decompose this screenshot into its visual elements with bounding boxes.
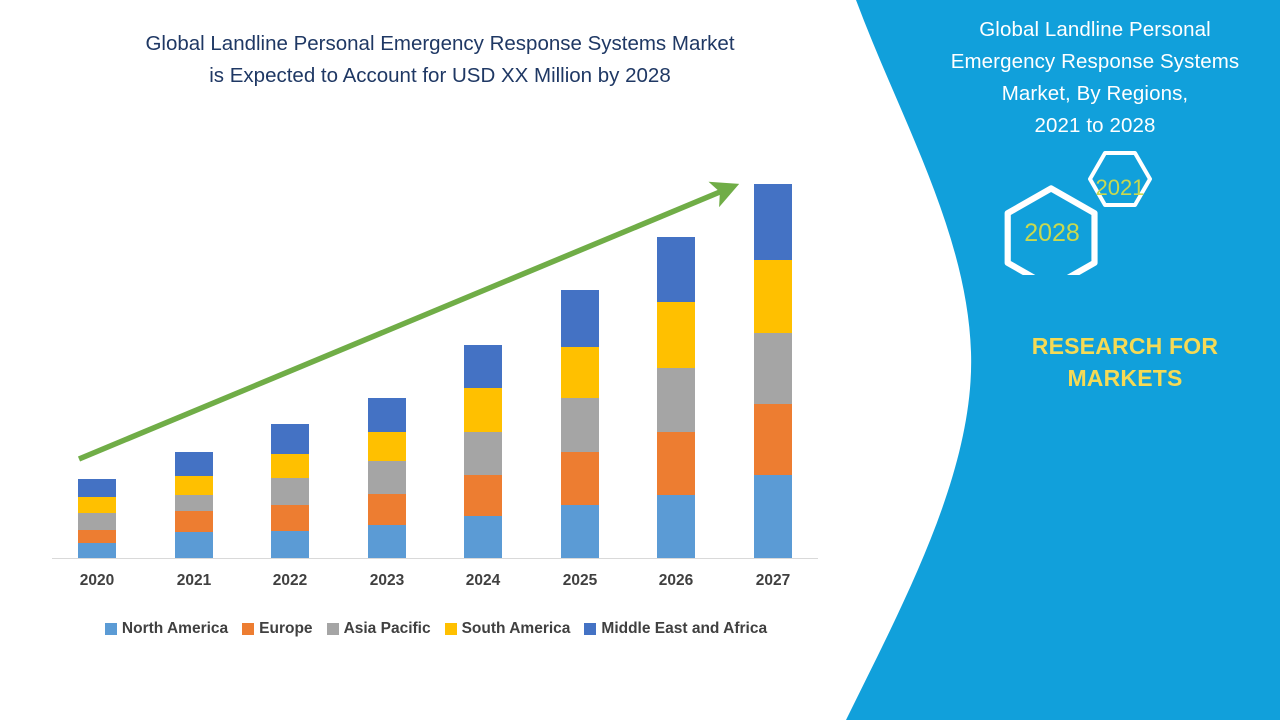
bar-segment-2020-asia-pacific bbox=[78, 513, 116, 530]
legend-label: Middle East and Africa bbox=[601, 620, 767, 638]
x-tick-2026: 2026 bbox=[631, 572, 721, 590]
x-tick-2024: 2024 bbox=[438, 572, 528, 590]
trend-arrow bbox=[0, 0, 860, 600]
bar-segment-2025-europe bbox=[561, 452, 599, 505]
bar-segment-2027-middle-east-and-africa bbox=[754, 184, 792, 260]
x-axis-labels: 20202021202220232024202520262027 bbox=[0, 572, 860, 598]
bar-segment-2027-south-america bbox=[754, 260, 792, 333]
side-panel-title-line2: Emergency Response Systems bbox=[930, 46, 1260, 78]
bar-segment-2026-north-america bbox=[657, 495, 695, 558]
side-panel-title-line4: 2021 to 2028 bbox=[930, 110, 1260, 142]
bar-segment-2022-north-america bbox=[271, 531, 309, 558]
legend-item-south-america[interactable]: South America bbox=[445, 620, 571, 638]
bar-segment-2021-europe bbox=[175, 511, 213, 532]
bar-segment-2026-south-america bbox=[657, 302, 695, 368]
brand-line1: RESEARCH FOR bbox=[985, 330, 1265, 362]
bar-2023 bbox=[368, 0, 406, 558]
legend-swatch-icon bbox=[327, 623, 339, 635]
bar-2025 bbox=[561, 0, 599, 558]
bar-segment-2020-europe bbox=[78, 530, 116, 543]
bar-segment-2027-asia-pacific bbox=[754, 333, 792, 404]
legend-item-north-america[interactable]: North America bbox=[105, 620, 228, 638]
bar-segment-2023-europe bbox=[368, 494, 406, 525]
legend-label: South America bbox=[462, 620, 571, 638]
legend-swatch-icon bbox=[242, 623, 254, 635]
bar-segment-2020-south-america bbox=[78, 497, 116, 513]
legend-swatch-icon bbox=[584, 623, 596, 635]
x-tick-2023: 2023 bbox=[342, 572, 432, 590]
bar-segment-2023-middle-east-and-africa bbox=[368, 398, 406, 432]
bar-2020 bbox=[78, 0, 116, 558]
x-tick-2020: 2020 bbox=[52, 572, 142, 590]
bar-segment-2026-asia-pacific bbox=[657, 368, 695, 432]
bar-segment-2022-middle-east-and-africa bbox=[271, 424, 309, 454]
legend-label: Asia Pacific bbox=[344, 620, 431, 638]
bar-segment-2020-north-america bbox=[78, 543, 116, 558]
bar-segment-2024-asia-pacific bbox=[464, 432, 502, 475]
legend-item-europe[interactable]: Europe bbox=[242, 620, 312, 638]
legend-swatch-icon bbox=[105, 623, 117, 635]
legend-label: North America bbox=[122, 620, 228, 638]
bar-segment-2021-north-america bbox=[175, 532, 213, 558]
brand-line2: MARKETS bbox=[985, 362, 1265, 394]
bar-2024 bbox=[464, 0, 502, 558]
bar-segment-2023-north-america bbox=[368, 525, 406, 558]
brand-wordmark: RESEARCH FOR MARKETS bbox=[985, 330, 1265, 394]
x-tick-2022: 2022 bbox=[245, 572, 335, 590]
side-panel-title-block: Global Landline Personal Emergency Respo… bbox=[930, 14, 1260, 142]
bar-segment-2022-asia-pacific bbox=[271, 478, 309, 505]
bar-segment-2023-asia-pacific bbox=[368, 461, 406, 494]
hexagon-2021-label: 2021 bbox=[1096, 175, 1145, 200]
hexagon-2028-label: 2028 bbox=[1024, 219, 1080, 247]
bar-segment-2025-south-america bbox=[561, 347, 599, 398]
legend-item-middle-east-and-africa[interactable]: Middle East and Africa bbox=[584, 620, 767, 638]
bar-segment-2026-europe bbox=[657, 432, 695, 495]
bar-segment-2021-middle-east-and-africa bbox=[175, 452, 213, 476]
x-tick-2025: 2025 bbox=[535, 572, 625, 590]
hexagon-badges: 2028 2021 bbox=[975, 145, 1205, 275]
side-panel-title-line3: Market, By Regions, bbox=[930, 78, 1260, 110]
bar-segment-2024-north-america bbox=[464, 516, 502, 558]
bar-segment-2025-asia-pacific bbox=[561, 398, 599, 452]
bar-segment-2027-north-america bbox=[754, 475, 792, 558]
legend-item-asia-pacific[interactable]: Asia Pacific bbox=[327, 620, 431, 638]
bar-segment-2025-north-america bbox=[561, 505, 599, 558]
bar-2021 bbox=[175, 0, 213, 558]
bar-segment-2026-middle-east-and-africa bbox=[657, 237, 695, 302]
bar-segment-2027-europe bbox=[754, 404, 792, 475]
bar-segment-2023-south-america bbox=[368, 432, 406, 461]
slide-canvas: Global Landline Personal Emergency Respo… bbox=[0, 0, 1280, 720]
bar-segment-2022-south-america bbox=[271, 454, 309, 478]
bar-segment-2025-middle-east-and-africa bbox=[561, 290, 599, 347]
bar-segment-2020-middle-east-and-africa bbox=[78, 479, 116, 497]
side-panel-title-line1: Global Landline Personal bbox=[930, 14, 1260, 46]
legend-label: Europe bbox=[259, 620, 312, 638]
x-axis-line bbox=[52, 558, 818, 559]
x-tick-2021: 2021 bbox=[149, 572, 239, 590]
bar-2026 bbox=[657, 0, 695, 558]
legend-swatch-icon bbox=[445, 623, 457, 635]
bar-segment-2024-middle-east-and-africa bbox=[464, 345, 502, 388]
bar-segment-2022-europe bbox=[271, 505, 309, 531]
bar-2027 bbox=[754, 0, 792, 558]
bar-segment-2024-south-america bbox=[464, 388, 502, 432]
x-tick-2027: 2027 bbox=[728, 572, 818, 590]
bar-2022 bbox=[271, 0, 309, 558]
stacked-bar-chart: 20202021202220232024202520262027 North A… bbox=[0, 0, 860, 600]
chart-legend: North AmericaEuropeAsia PacificSouth Ame… bbox=[52, 617, 820, 641]
bar-segment-2021-south-america bbox=[175, 476, 213, 495]
bar-segment-2021-asia-pacific bbox=[175, 495, 213, 511]
bar-segment-2024-europe bbox=[464, 475, 502, 516]
